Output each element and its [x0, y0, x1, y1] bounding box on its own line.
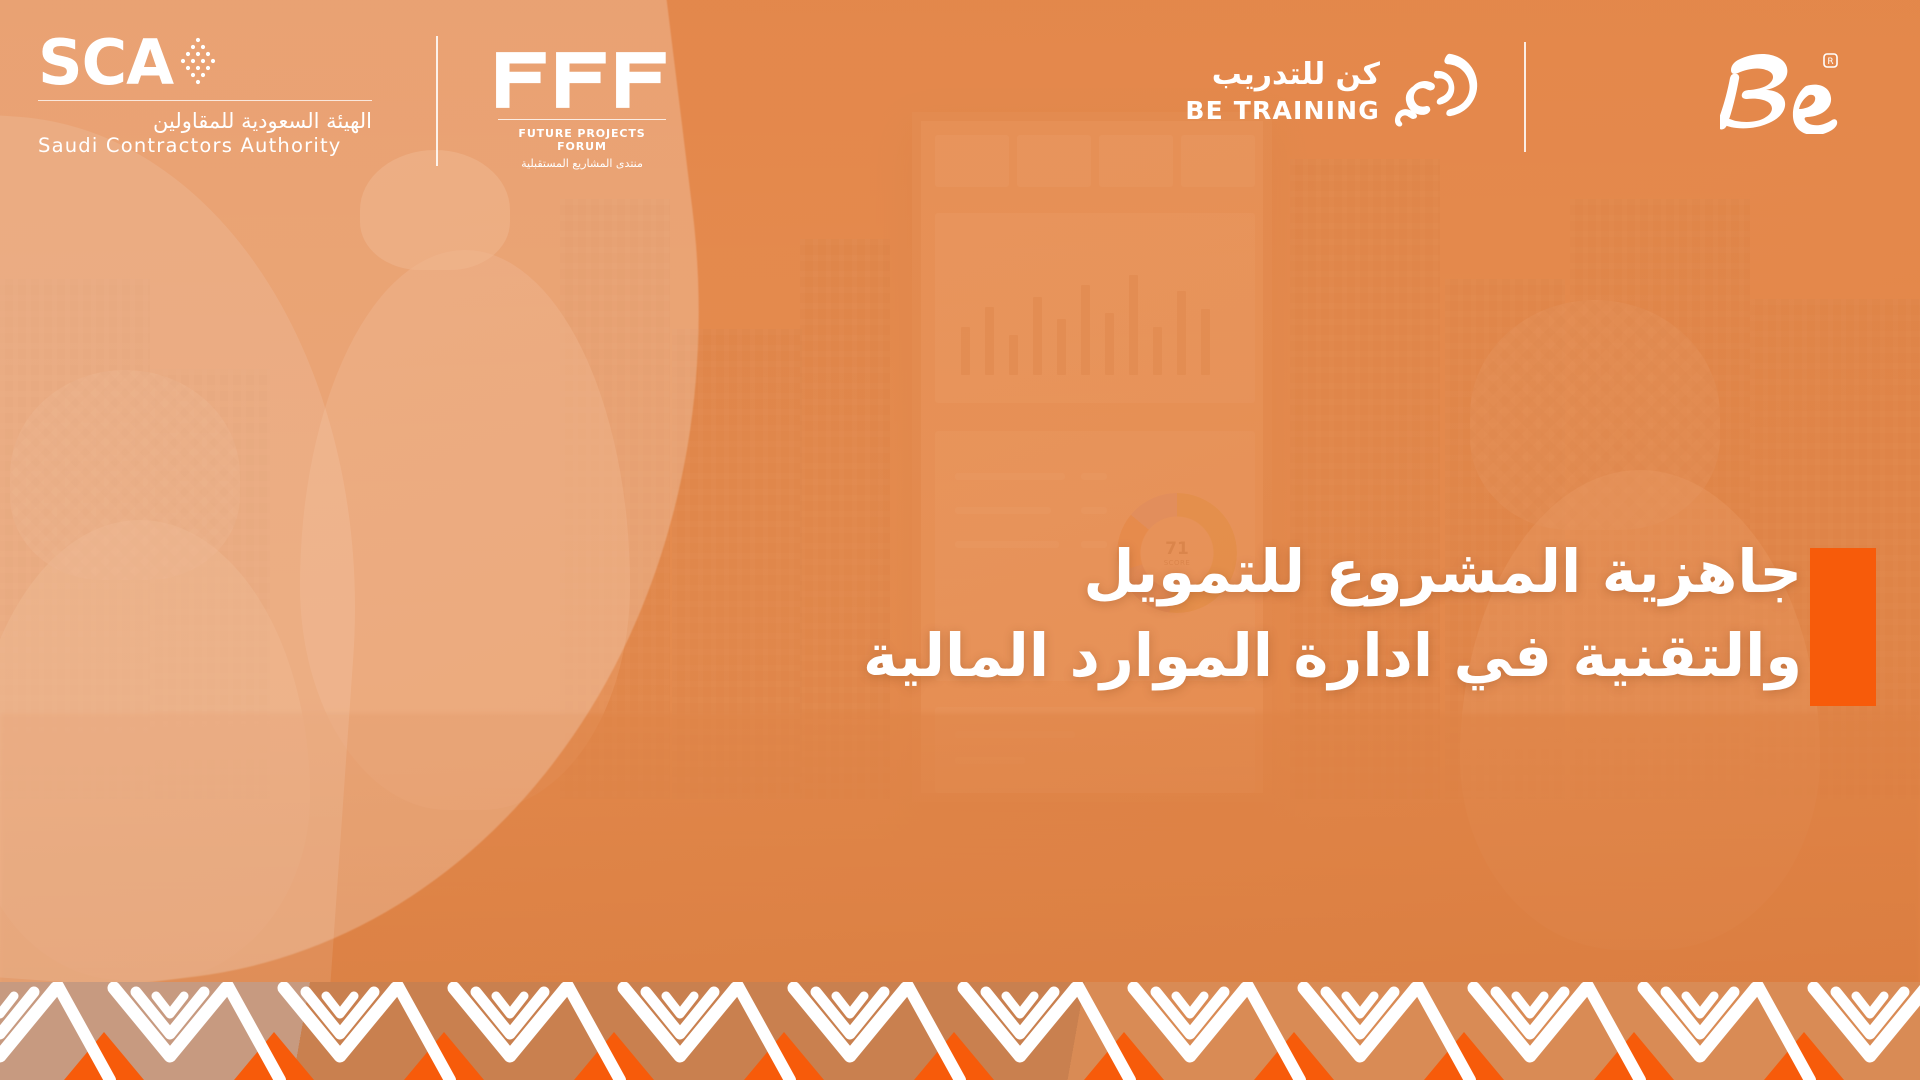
headline-line-1: جاهزية المشروع للتمويل	[863, 530, 1802, 614]
orange-accent-block	[1810, 548, 1876, 706]
sadu-chevron-pattern	[0, 982, 1920, 1080]
sca-logo: SCA الهيئة السعودية للمقاولين Saudi Cont…	[38, 34, 372, 159]
be-logo: R	[1720, 50, 1840, 134]
be-training-english-name: BE TRAINING	[1185, 96, 1380, 125]
stylized-kaf-swirl-icon	[1394, 48, 1480, 134]
svg-text:R: R	[1827, 57, 1833, 67]
header-logo-bar: SCA الهيئة السعودية للمقاولين Saudi Cont…	[0, 0, 1920, 200]
banner-canvas: 71 SCORE SCA	[0, 0, 1920, 1080]
sca-arabic-name: الهيئة السعودية للمقاولين	[38, 108, 372, 134]
be-wordmark-icon: R	[1720, 50, 1840, 134]
fpf-arabic-name: منتدى المشاريع المستقبلية	[492, 157, 672, 170]
be-training-arabic-name: كن للتدريب	[1185, 58, 1380, 91]
header-divider-2	[1524, 42, 1526, 152]
be-training-logo: كن للتدريب BE TRAINING	[1185, 48, 1480, 134]
header-divider-1	[436, 36, 438, 166]
logo-divider-rule	[498, 119, 666, 120]
page-title: جاهزية المشروع للتمويل والتقنية في ادارة…	[863, 530, 1802, 698]
headline-line-2: والتقنية في ادارة الموارد المالية	[863, 614, 1802, 698]
fpf-english-name: FUTURE PROJECTS FORUM	[492, 127, 672, 153]
dot-matrix-arrow-icon	[175, 36, 221, 88]
sca-wordmark: SCA	[38, 34, 173, 91]
fpf-logo: FUTURE PROJECTS FORUM منتدى المشاريع الم…	[492, 50, 672, 170]
fpf-monogram-icon	[494, 50, 670, 110]
sca-english-name: Saudi Contractors Authority	[38, 134, 372, 158]
logo-divider-rule	[38, 100, 372, 101]
chevron-motif-group	[0, 982, 1920, 1080]
